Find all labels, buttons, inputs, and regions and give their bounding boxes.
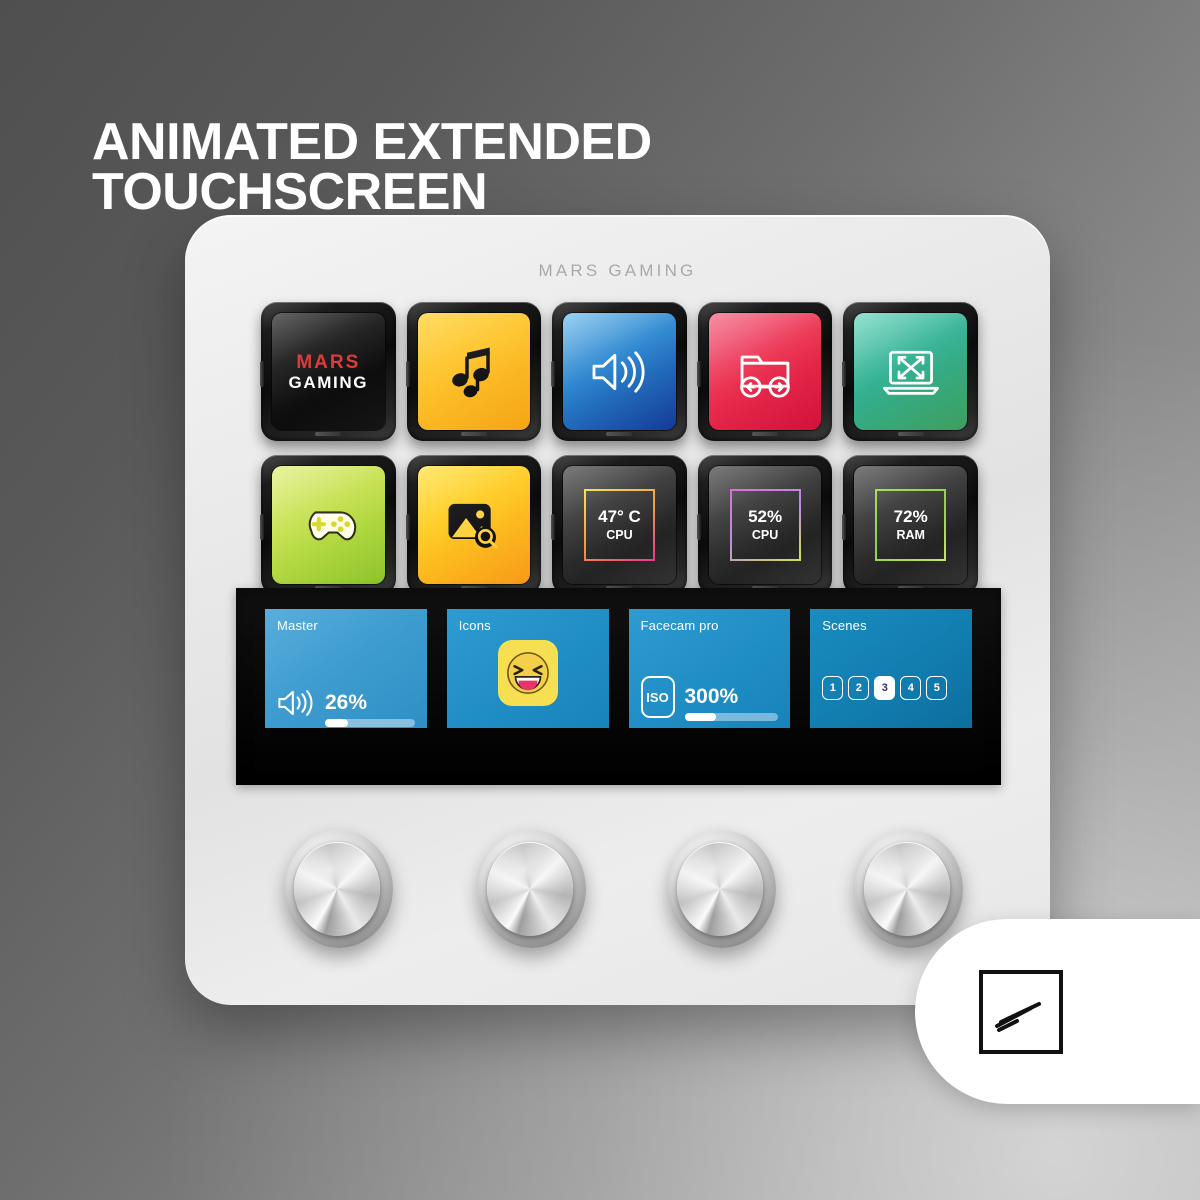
knob-row: [263, 830, 993, 955]
stream-deck-device: MARS GAMING MARS GAMING: [185, 215, 1050, 1005]
key-music[interactable]: [407, 302, 542, 441]
scene-button-1[interactable]: 1: [822, 676, 843, 700]
gamepad-icon: [297, 502, 359, 548]
touch-panel-row: Master 26% Icons: [265, 609, 972, 728]
cpu-load-readout: 52% CPU: [730, 489, 801, 562]
ram-usage-readout: 72% RAM: [875, 489, 946, 562]
key-grid: MARS GAMING: [261, 302, 978, 595]
knob-4[interactable]: [855, 830, 963, 948]
scene-button-4[interactable]: 4: [900, 676, 921, 700]
panel-title: Master: [277, 618, 415, 633]
folder-arrows-icon: [735, 344, 795, 400]
image-magnifier-icon: [445, 498, 503, 552]
panel-title: Icons: [459, 618, 597, 633]
touch-panel-scenes[interactable]: Scenes 1 2 3 4 5: [810, 609, 972, 728]
touch-panel-master-volume[interactable]: Master 26%: [265, 609, 427, 728]
glossy-surface-icon: [979, 970, 1063, 1054]
brand-logo: MARS GAMING: [185, 261, 1050, 281]
panel-title: Facecam pro: [641, 618, 779, 633]
iso-badge-icon: ISO: [641, 676, 675, 718]
headline-line-2: TOUCHSCREEN: [92, 168, 852, 218]
key-ram-usage[interactable]: 72% RAM: [843, 455, 978, 594]
key-screen-expand[interactable]: [843, 302, 978, 441]
key-cpu-load[interactable]: 52% CPU: [698, 455, 833, 594]
speaker-waves-icon: [277, 688, 315, 718]
iso-progress-bar[interactable]: [685, 713, 779, 721]
key-game-mode[interactable]: [261, 455, 396, 594]
key-volume[interactable]: [552, 302, 687, 441]
speaker-waves-icon: [589, 347, 649, 397]
touch-panel-icons[interactable]: Icons: [447, 609, 609, 728]
knob-3[interactable]: [668, 830, 776, 948]
panel-value: 300%: [685, 685, 779, 709]
key-image-search[interactable]: [407, 455, 542, 594]
music-notes-icon: [446, 344, 502, 400]
extended-touchscreen-strip[interactable]: Master 26% Icons: [236, 588, 1001, 785]
scene-button-2[interactable]: 2: [848, 676, 869, 700]
laptop-expand-icon: [881, 346, 941, 398]
key-mars-gaming-logo[interactable]: MARS GAMING: [261, 302, 396, 441]
scene-button-5[interactable]: 5: [926, 676, 947, 700]
cpu-temperature-readout: 47° C CPU: [584, 489, 655, 562]
panel-title: Scenes: [822, 618, 960, 633]
mars-gaming-logo-icon: MARS GAMING: [289, 352, 368, 392]
scene-button-row: 1 2 3 4 5: [822, 676, 960, 700]
touch-panel-facecam-pro[interactable]: Facecam pro ISO 300%: [629, 609, 791, 728]
key-cpu-temperature[interactable]: 47° C CPU: [552, 455, 687, 594]
page-title: ANIMATED EXTENDED TOUCHSCREEN: [92, 118, 852, 218]
laughing-emoji-icon: [498, 640, 558, 706]
panel-value: 26%: [325, 691, 415, 715]
scene-button-3[interactable]: 3: [874, 676, 895, 700]
glossy-finish-badge: [915, 919, 1200, 1104]
knob-1[interactable]: [285, 830, 393, 948]
knob-2[interactable]: [478, 830, 586, 948]
key-file-transfer[interactable]: [698, 302, 833, 441]
volume-progress-bar[interactable]: [325, 719, 415, 727]
